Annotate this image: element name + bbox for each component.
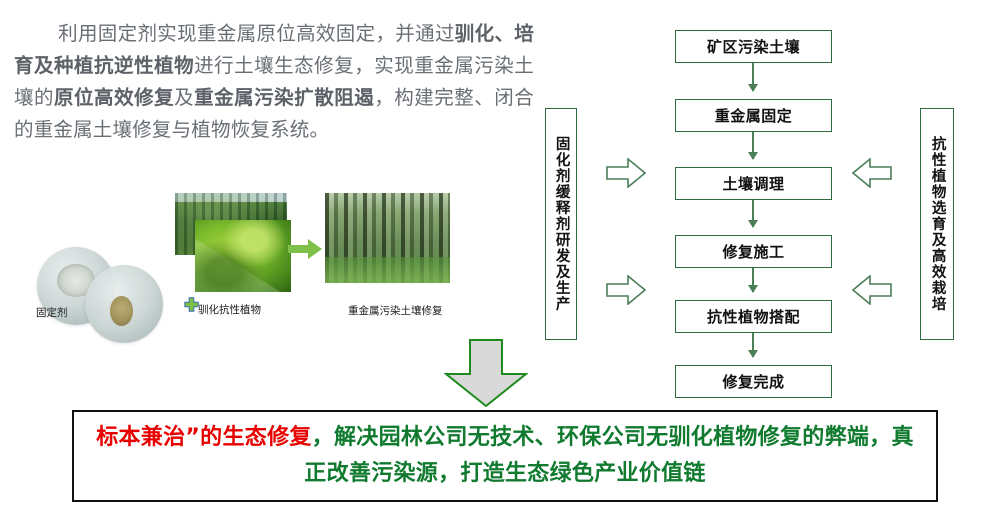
- resistant-plant-leaf-photo: [195, 220, 291, 292]
- flow-connector-2: [752, 200, 754, 227]
- flow-step-4-label: 抗性植物搭配: [707, 306, 800, 327]
- flow-step-1[interactable]: 重金属固定: [675, 99, 832, 132]
- flow-step-1-label: 重金属固定: [715, 105, 793, 126]
- flow-step-5-label: 修复完成: [722, 371, 784, 392]
- summary-highlight: 标本兼治”的生态修复: [96, 425, 311, 450]
- side-panel-left-label: 固化剂缓释剂研发及生产: [553, 136, 568, 312]
- arrow-down-big-icon: [444, 338, 528, 408]
- arrow-head-icon: [748, 220, 758, 228]
- flow-step-5[interactable]: 修复完成: [675, 365, 832, 398]
- arrow-right-outline-icon: [606, 158, 646, 188]
- arrow-head-icon: [748, 350, 758, 358]
- plus-badge-icon: [184, 297, 199, 312]
- flow-connector-3: [752, 268, 754, 292]
- intro-paragraph-text: 利用固定剂实现重金属原位高效固定，并通过驯化、培育及种植抗逆性植物进行土壤生态修…: [14, 22, 534, 141]
- flow-connector-4: [752, 333, 754, 357]
- photo-collage: 固定剂 驯化抗性植物 重金属污染土壤修复: [0, 185, 540, 340]
- flow-step-4[interactable]: 抗性植物搭配: [675, 300, 832, 333]
- intro-segment-3: 原位高效修复: [54, 86, 174, 109]
- flow-step-3-label: 修复施工: [722, 241, 784, 262]
- arrow-head-icon: [748, 84, 758, 92]
- caption-fixative: 固定剂: [36, 305, 68, 320]
- intro-segment-5: 重金属污染扩散阻遏: [194, 86, 374, 109]
- intro-segment-4: 及: [174, 86, 194, 109]
- flow-step-0-label: 矿区污染土壤: [707, 36, 800, 57]
- intro-segment-0: 利用固定剂实现重金属原位高效固定，并通过: [58, 22, 455, 45]
- intro-paragraph: 利用固定剂实现重金属原位高效固定，并通过驯化、培育及种植抗逆性植物进行土壤生态修…: [14, 18, 534, 146]
- fixative-dish-right: [85, 265, 163, 343]
- summary-banner: 标本兼治”的生态修复，解决园林公司无技术、环保公司无驯化植物修复的弊端，真正改善…: [72, 410, 938, 502]
- caption-remediation: 重金属污染土壤修复: [348, 303, 443, 318]
- remediated-forest-photo: [325, 193, 450, 283]
- flow-step-2-label: 土壤调理: [722, 173, 784, 194]
- summary-rest: ，解决园林公司无技术、环保公司无驯化植物修复的弊端，真正改善污染源，打造生态绿色…: [304, 425, 913, 486]
- flow-step-0[interactable]: 矿区污染土壤: [675, 30, 832, 63]
- summary-text: 标本兼治”的生态修复，解决园林公司无技术、环保公司无驯化植物修复的弊端，真正改善…: [88, 420, 922, 492]
- arrow-left-outline-icon: [852, 158, 892, 188]
- arrow-head-icon: [748, 285, 758, 293]
- flow-connector-0: [752, 63, 754, 91]
- side-panel-left[interactable]: 固化剂缓释剂研发及生产: [545, 108, 577, 340]
- arrow-right-outline-icon: [606, 275, 646, 305]
- side-panel-right[interactable]: 抗性植物选育及高效栽培: [920, 108, 954, 340]
- arrow-right-icon: [288, 239, 322, 259]
- flow-step-2[interactable]: 土壤调理: [675, 167, 832, 200]
- flow-connector-1: [752, 132, 754, 159]
- arrow-head-icon: [748, 152, 758, 160]
- flow-step-3[interactable]: 修复施工: [675, 235, 832, 268]
- arrow-left-outline-icon: [852, 275, 892, 305]
- side-panel-right-label: 抗性植物选育及高效栽培: [929, 136, 944, 312]
- caption-plant: 驯化抗性植物: [198, 302, 261, 317]
